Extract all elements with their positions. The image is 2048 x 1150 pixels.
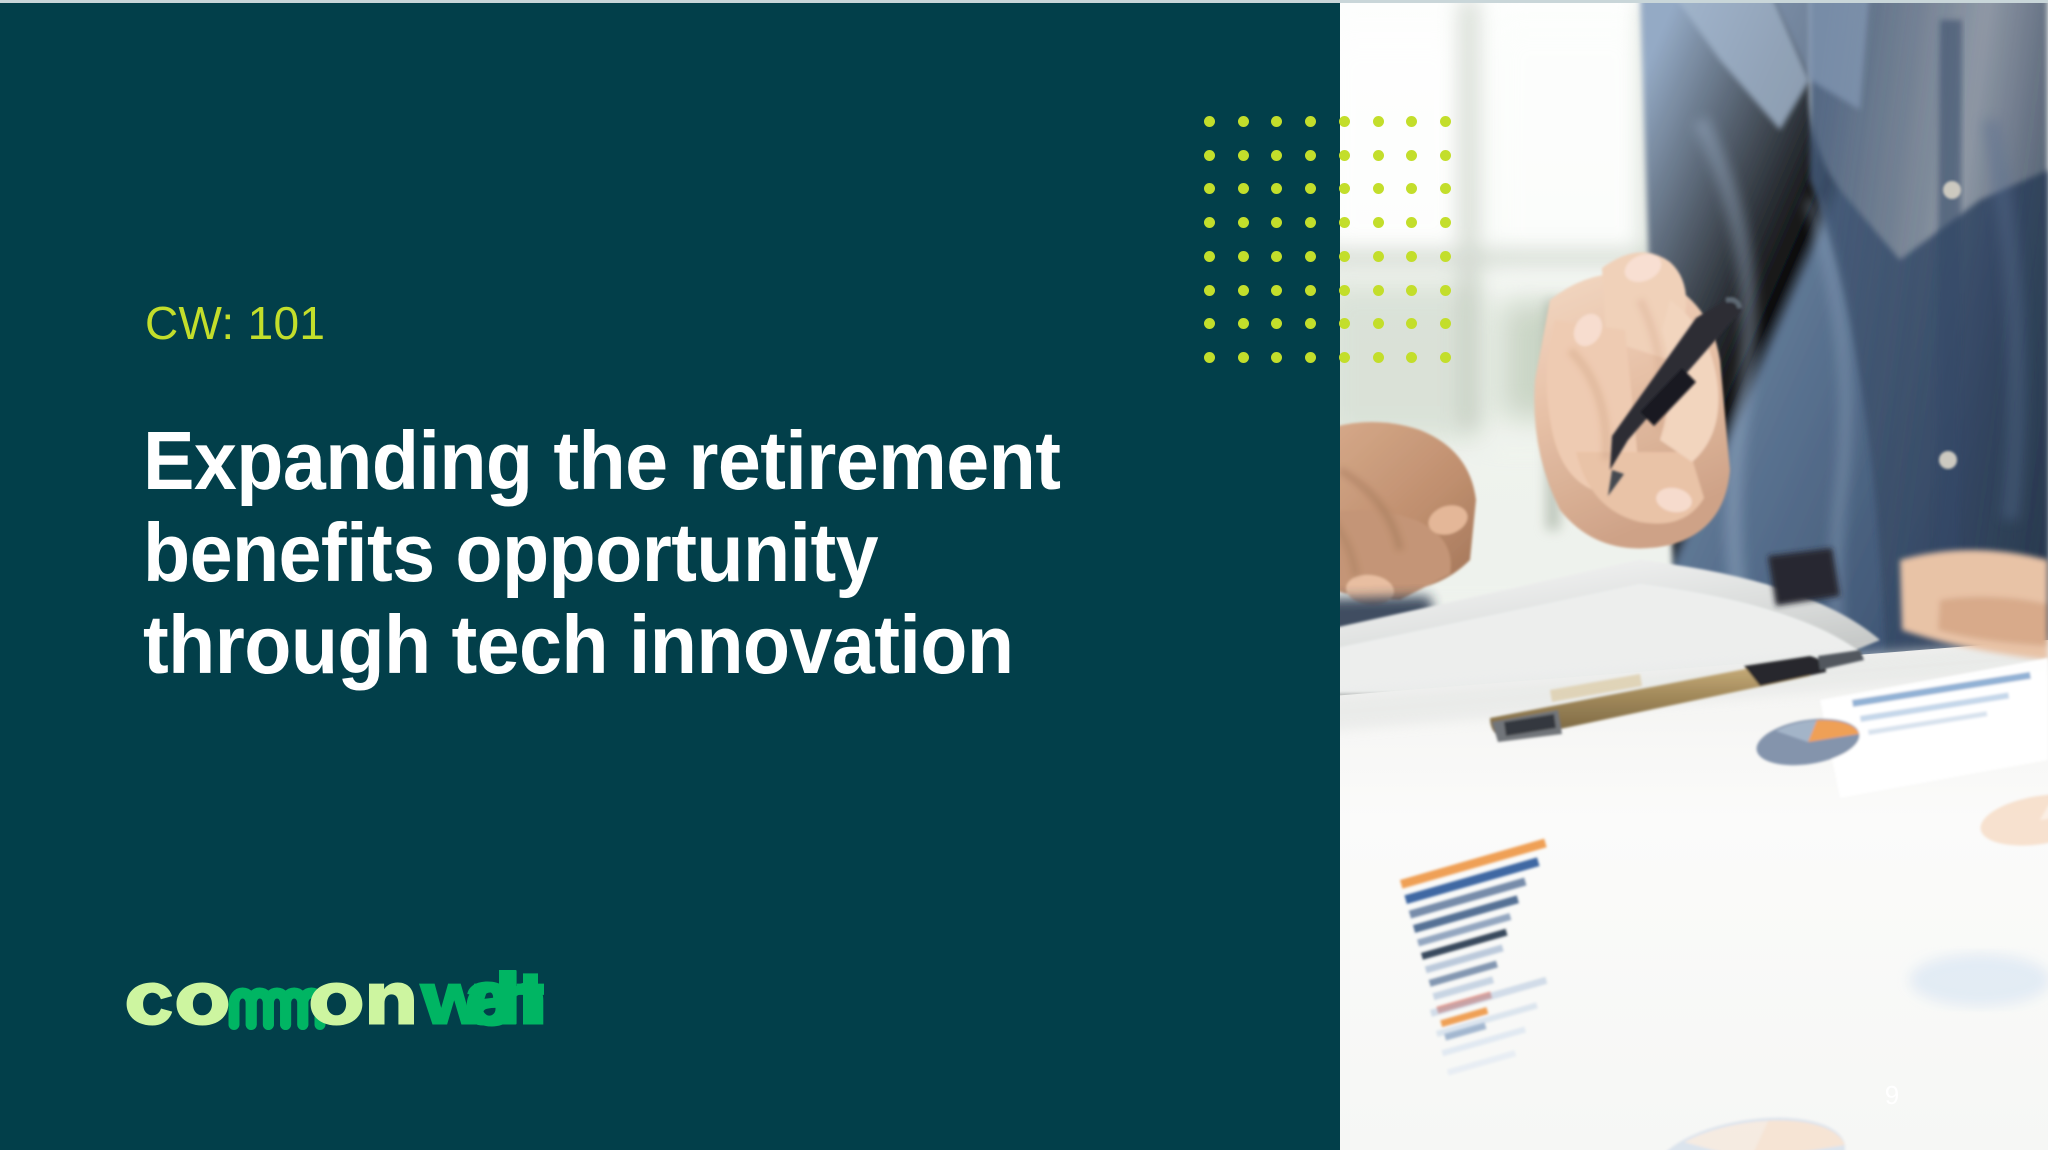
logo-co <box>127 983 229 1026</box>
business-meeting-photo <box>1340 0 2048 1150</box>
slide: CW: 101 Expanding the retirement benefit… <box>0 0 2048 1150</box>
logo-wealth <box>419 970 544 1027</box>
eyebrow-label: CW: 101 <box>145 300 325 346</box>
page-title: Expanding the retirement benefits opport… <box>143 415 1129 691</box>
page-number: 9 <box>1872 1080 1912 1111</box>
logo-wave-mark <box>234 993 320 1025</box>
title-line-1: Expanding the retirement <box>143 415 1129 507</box>
title-line-2: benefits opportunity <box>143 507 1129 599</box>
top-rule <box>0 0 2048 3</box>
logo-on <box>311 983 414 1026</box>
title-line-3: through tech innovation <box>143 599 1129 691</box>
common-wealth-logo <box>124 970 544 1032</box>
left-content-panel: CW: 101 Expanding the retirement benefit… <box>0 0 1340 1150</box>
